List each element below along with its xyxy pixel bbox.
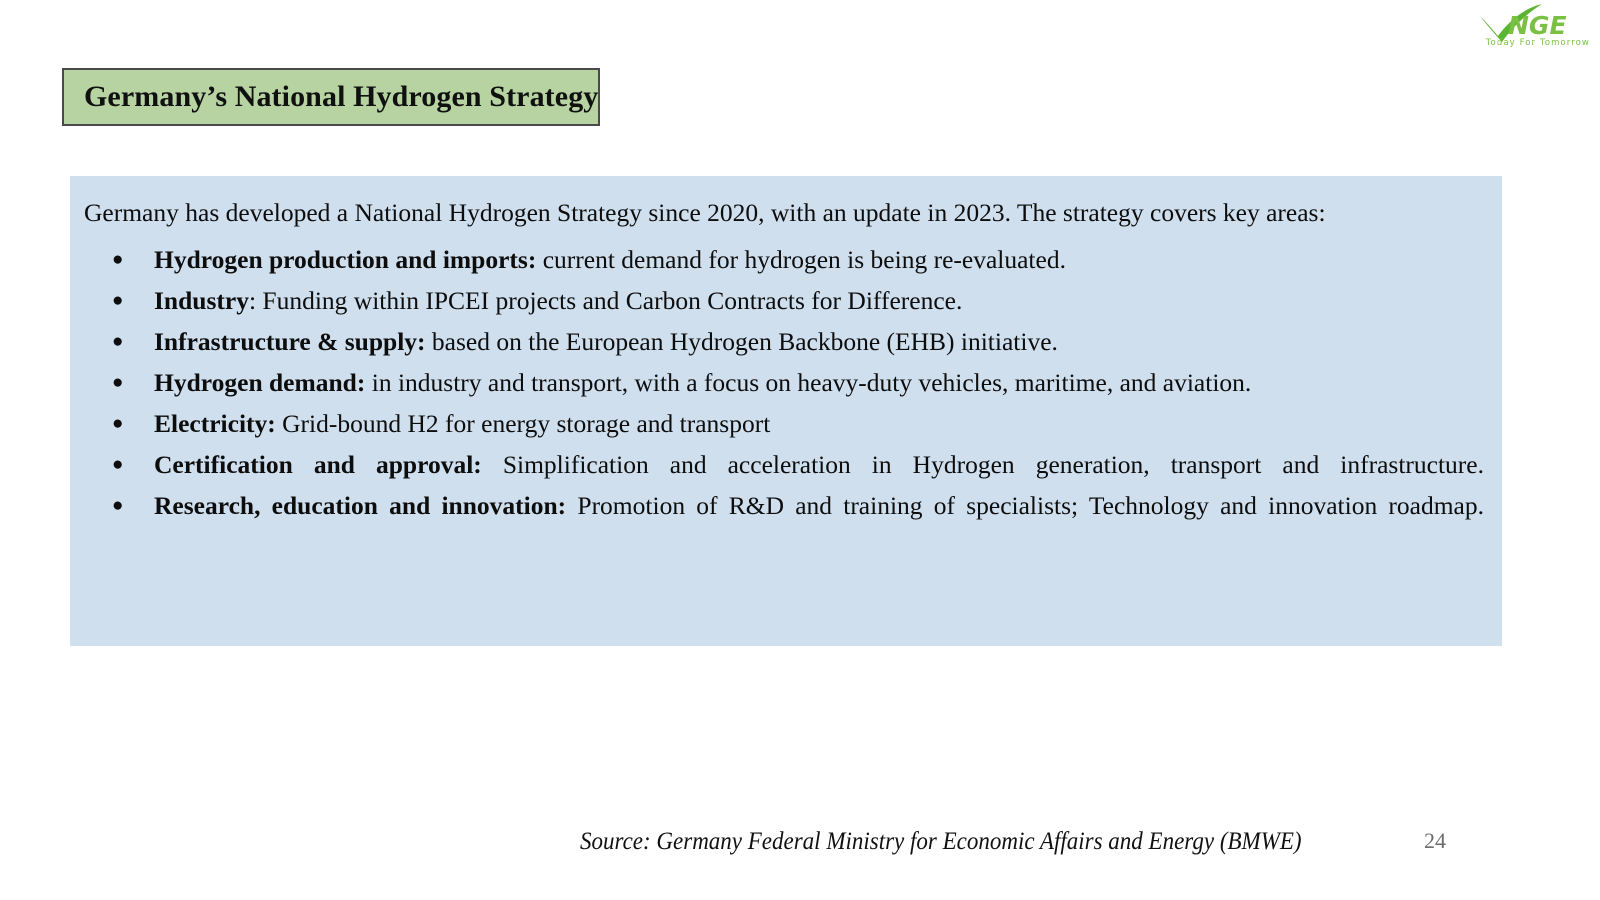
bullet-dot-icon: ●: [112, 239, 123, 280]
list-item-label: Certification and approval:: [154, 450, 482, 479]
logo-tagline: Today For Tomorrow: [1442, 38, 1592, 48]
list-item: ● Research, education and innovation: Pr…: [84, 485, 1484, 526]
list-item-label: Industry: [154, 286, 249, 315]
bullet-dot-icon: ●: [112, 362, 123, 403]
list-item-text: current demand for hydrogen is being re-…: [536, 245, 1066, 274]
bullet-dot-icon: ●: [112, 485, 123, 526]
page-number: 24: [1424, 828, 1446, 854]
svg-text:NGE: NGE: [1508, 11, 1567, 40]
list-item-text: Promotion of R&D and training of special…: [566, 491, 1484, 520]
brand-logo: NGE Today For Tomorrow: [1442, 2, 1592, 54]
list-item: ● Infrastructure & supply: based on the …: [84, 321, 1484, 362]
list-item: ● Certification and approval: Simplifica…: [84, 444, 1484, 485]
list-item: ● Hydrogen production and imports: curre…: [84, 239, 1484, 280]
list-item: ● Electricity: Grid-bound H2 for energy …: [84, 403, 1484, 444]
list-item-text: Simplification and acceleration in Hydro…: [482, 450, 1484, 479]
list-item-text: based on the European Hydrogen Backbone …: [426, 327, 1058, 356]
bullet-dot-icon: ●: [112, 403, 123, 444]
bullet-list: ● Hydrogen production and imports: curre…: [84, 239, 1484, 526]
list-item: ● Hydrogen demand: in industry and trans…: [84, 362, 1484, 403]
content-panel: Germany has developed a National Hydroge…: [70, 176, 1502, 646]
bullet-dot-icon: ●: [112, 444, 123, 485]
list-item-label: Hydrogen production and imports:: [154, 245, 536, 274]
bullet-dot-icon: ●: [112, 280, 123, 321]
list-item-label: Research, education and innovation:: [154, 491, 566, 520]
source-note: Source: Germany Federal Ministry for Eco…: [580, 828, 1302, 856]
page-title: Germany’s National Hydrogen Strategy: [64, 80, 598, 114]
list-item-label: Infrastructure & supply:: [154, 327, 426, 356]
bullet-dot-icon: ●: [112, 321, 123, 362]
list-item-text: : Funding within IPCEI projects and Carb…: [249, 286, 962, 315]
list-item-label: Hydrogen demand:: [154, 368, 365, 397]
list-item-text: in industry and transport, with a focus …: [365, 368, 1251, 397]
vnge-logo-icon: NGE: [1442, 2, 1592, 42]
list-item: ● Industry: Funding within IPCEI project…: [84, 280, 1484, 321]
list-item-label: Electricity:: [154, 409, 276, 438]
intro-paragraph: Germany has developed a National Hydroge…: [84, 192, 1484, 233]
list-item-text: Grid-bound H2 for energy storage and tra…: [276, 409, 771, 438]
slide-title-banner: Germany’s National Hydrogen Strategy: [62, 68, 600, 126]
